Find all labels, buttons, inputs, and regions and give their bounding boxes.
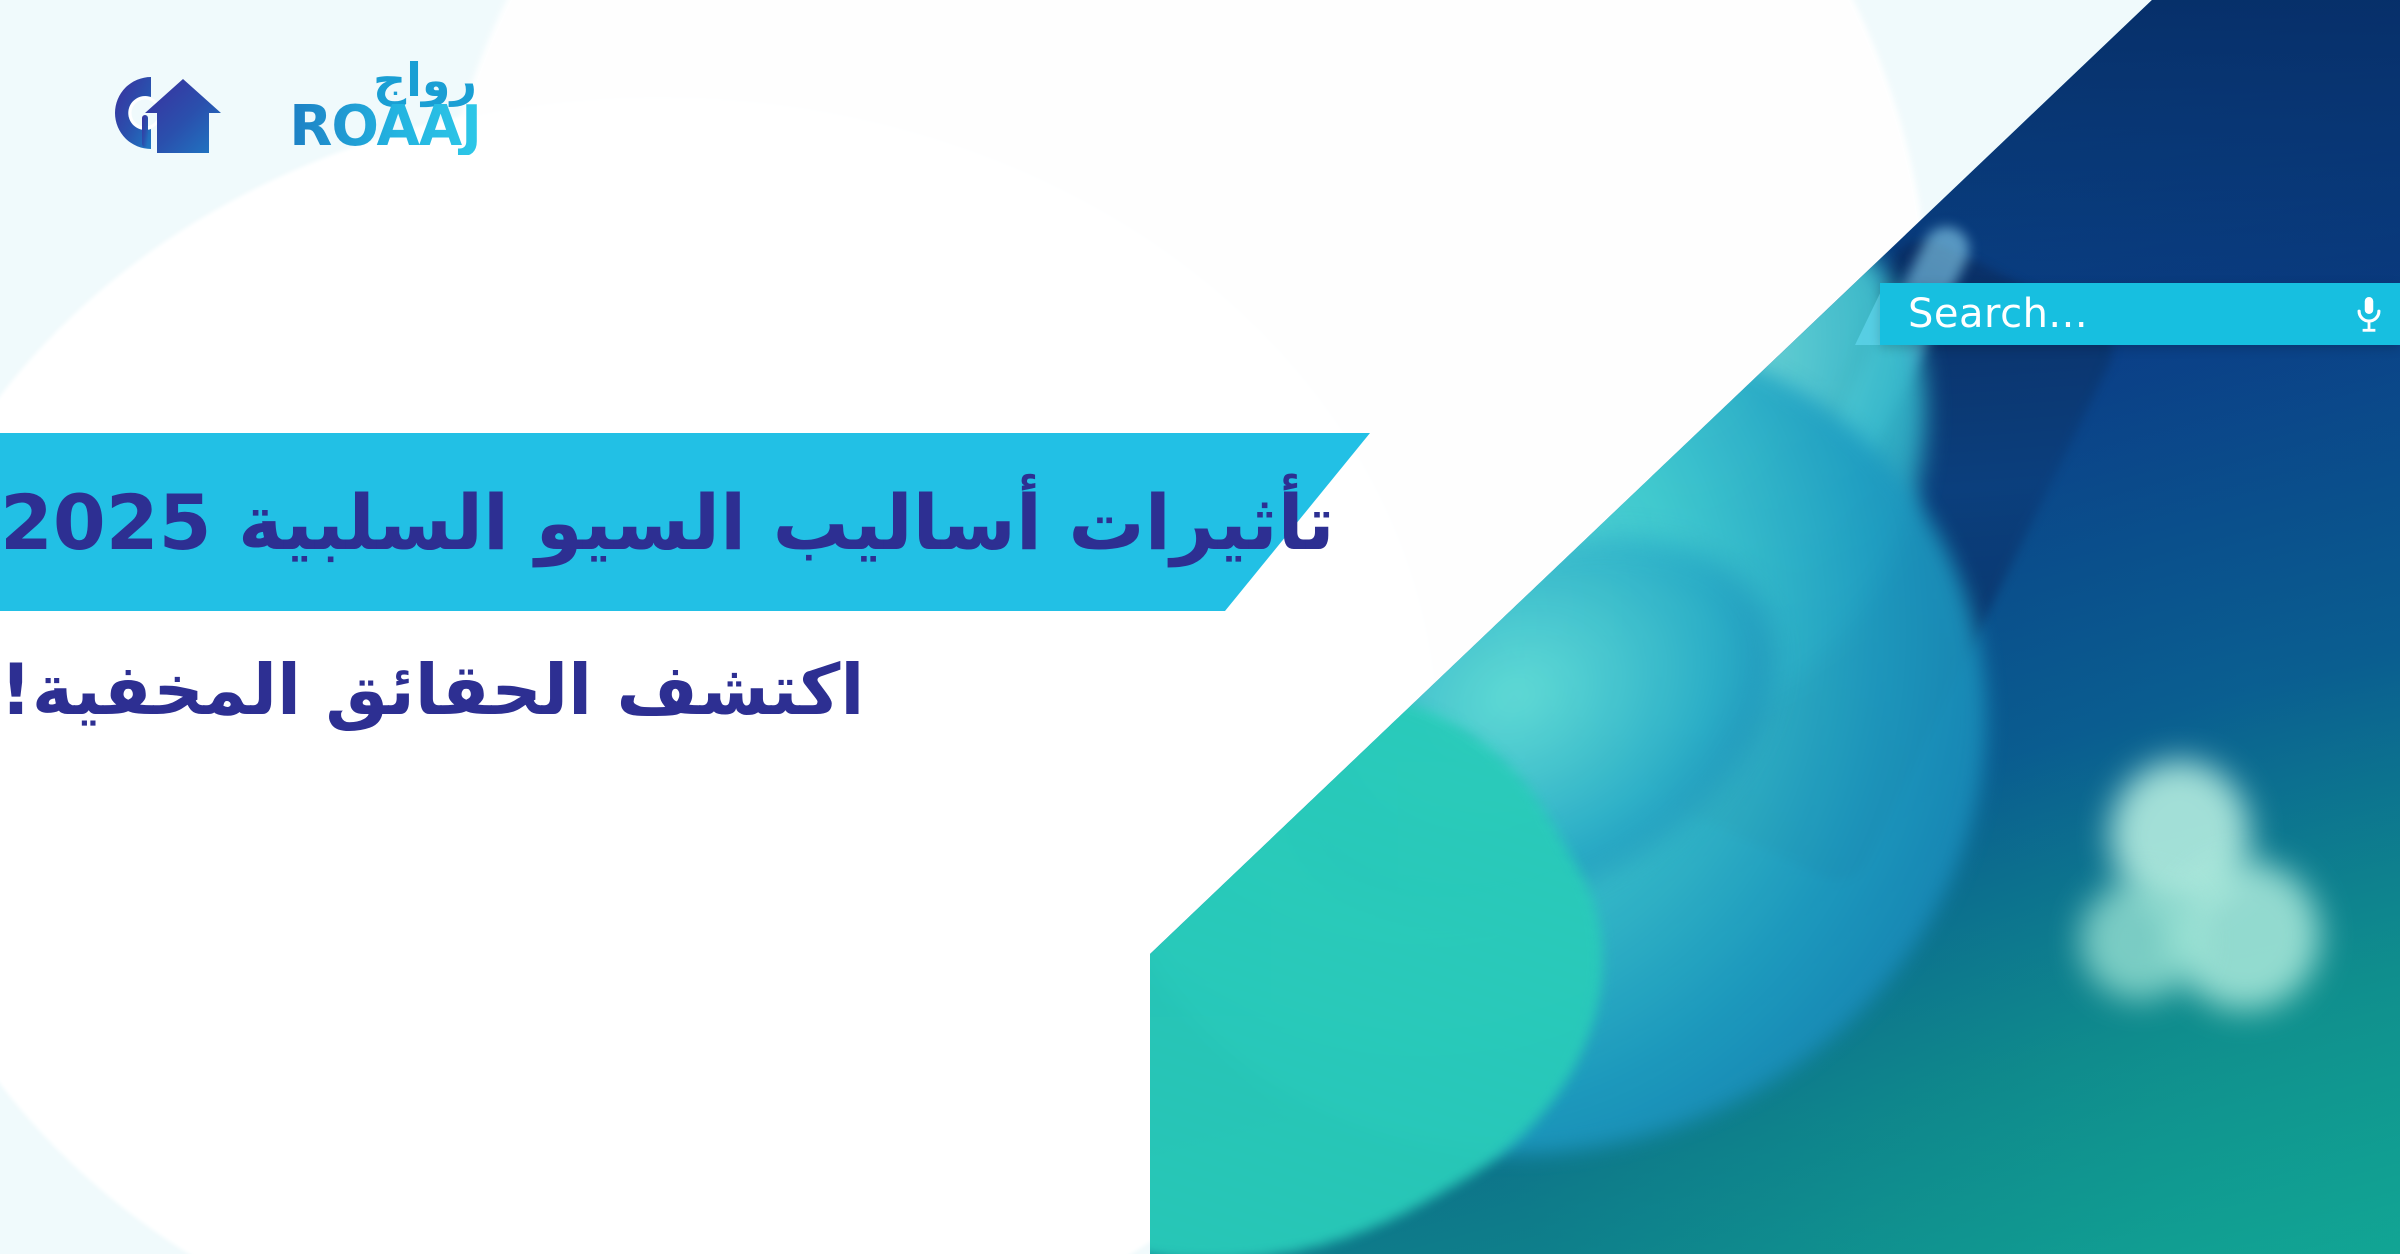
- logo-latin-text: ROAAJ: [289, 99, 481, 155]
- search-placeholder-text: Search...: [1908, 291, 2088, 337]
- microphone-icon[interactable]: [2352, 294, 2386, 334]
- search-input[interactable]: Search...: [1880, 283, 2400, 345]
- logo-wordmark: رواج ROAAJ: [237, 63, 477, 163]
- brand-logo[interactable]: رواج ROAAJ: [105, 58, 525, 168]
- bokeh-light-c: [2080, 880, 2200, 1000]
- banner-stage: Search... رواج ROAAJ: [0, 0, 2400, 1254]
- headline-line-1: تأثيرات أساليب السيو السلبية 2025: [0, 433, 1370, 611]
- roaaj-arrow-circle-icon: [105, 67, 223, 159]
- headline-line-2: اكتشف الحقائق المخفية!: [0, 625, 1225, 755]
